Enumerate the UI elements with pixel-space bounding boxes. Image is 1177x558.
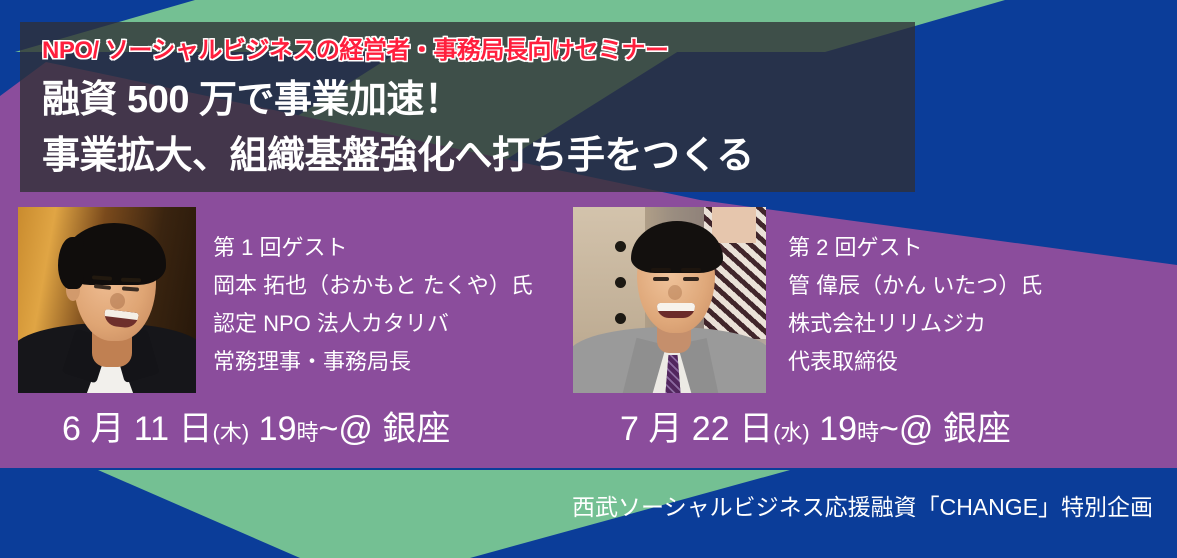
photo-mouth [657, 303, 695, 318]
date-1-weekday: (木) [213, 420, 250, 445]
photo-coat-button [615, 313, 626, 324]
date-2-time: 19 [819, 410, 857, 448]
guest-2-line-4: 代表取締役 [788, 343, 1042, 381]
photo-eye-left [653, 277, 669, 281]
date-1-time-unit: 時 [296, 420, 318, 445]
guest-block-2: 第 2 回ゲスト 管 偉辰（かん いたつ）氏 株式会社リリムジカ 代表取締役 [573, 207, 1042, 393]
guest-1-line-3: 認定 NPO 法人カタリバ [213, 305, 533, 343]
guest-2-line-2: 管 偉辰（かん いたつ）氏 [788, 267, 1042, 305]
photo-nose [668, 285, 682, 300]
photo-coat-button [615, 277, 626, 288]
photo-brow-left [651, 268, 671, 272]
headline-panel: NPO/ ソーシャルビジネスの経営者・事務局長向けセミナー 融資 500 万で事… [20, 22, 915, 192]
date-1-month-day: 6 月 11 日 [62, 410, 213, 448]
guest-1-line-4: 常務理事・事務局長 [213, 343, 533, 381]
photo-teeth [657, 303, 695, 311]
date-2-tail: ~@ 銀座 [879, 410, 1011, 448]
date-1-tail: ~@ 銀座 [319, 410, 451, 448]
headline-line-2: 事業拡大、組織基盤強化へ打ち手をつくる [42, 128, 893, 184]
headline-line-1: 融資 500 万で事業加速！ [42, 72, 893, 128]
guest-2-info: 第 2 回ゲスト 管 偉辰（かん いたつ）氏 株式会社リリムジカ 代表取締役 [788, 207, 1042, 381]
date-2-time-unit: 時 [857, 420, 879, 445]
guest-1-line-1: 第 1 回ゲスト [213, 229, 533, 267]
photo-coat-button [615, 241, 626, 252]
guest-1-line-2: 岡本 拓也（おかもと たくや）氏 [213, 267, 533, 305]
date-2-month-day: 7 月 22 日 [620, 410, 773, 448]
photo-eye-right [683, 277, 699, 281]
guest-2-photo [573, 207, 766, 393]
date-1-time: 19 [259, 410, 297, 448]
guest-1-date-row: 6 月 11 日(木) 19時~@ 銀座 [62, 409, 450, 453]
guest-2-date-row: 7 月 22 日(水) 19時~@ 銀座 [620, 409, 1011, 453]
guest-1-photo [18, 207, 196, 393]
photo-brow-right [681, 268, 701, 272]
headline-kicker: NPO/ ソーシャルビジネスの経営者・事務局長向けセミナー [42, 34, 893, 68]
footer-sponsor-text: 西武ソーシャルビジネス応援融資「CHANGE」特別企画 [572, 492, 1153, 522]
photo-hair-side [58, 237, 84, 289]
seminar-poster: NPO/ ソーシャルビジネスの経営者・事務局長向けセミナー 融資 500 万で事… [0, 0, 1177, 558]
photo-coat [573, 207, 645, 347]
guest-2-line-3: 株式会社リリムジカ [788, 305, 1042, 343]
date-2-weekday: (水) [773, 420, 810, 445]
photo-background-person [712, 207, 756, 243]
guest-2-line-1: 第 2 回ゲスト [788, 229, 1042, 267]
photo-brow-right [121, 278, 141, 283]
guest-block-1: 第 1 回ゲスト 岡本 拓也（おかもと たくや）氏 認定 NPO 法人カタリバ … [18, 207, 533, 393]
guest-1-info: 第 1 回ゲスト 岡本 拓也（おかもと たくや）氏 認定 NPO 法人カタリバ … [213, 207, 533, 381]
photo-nose [110, 293, 125, 309]
